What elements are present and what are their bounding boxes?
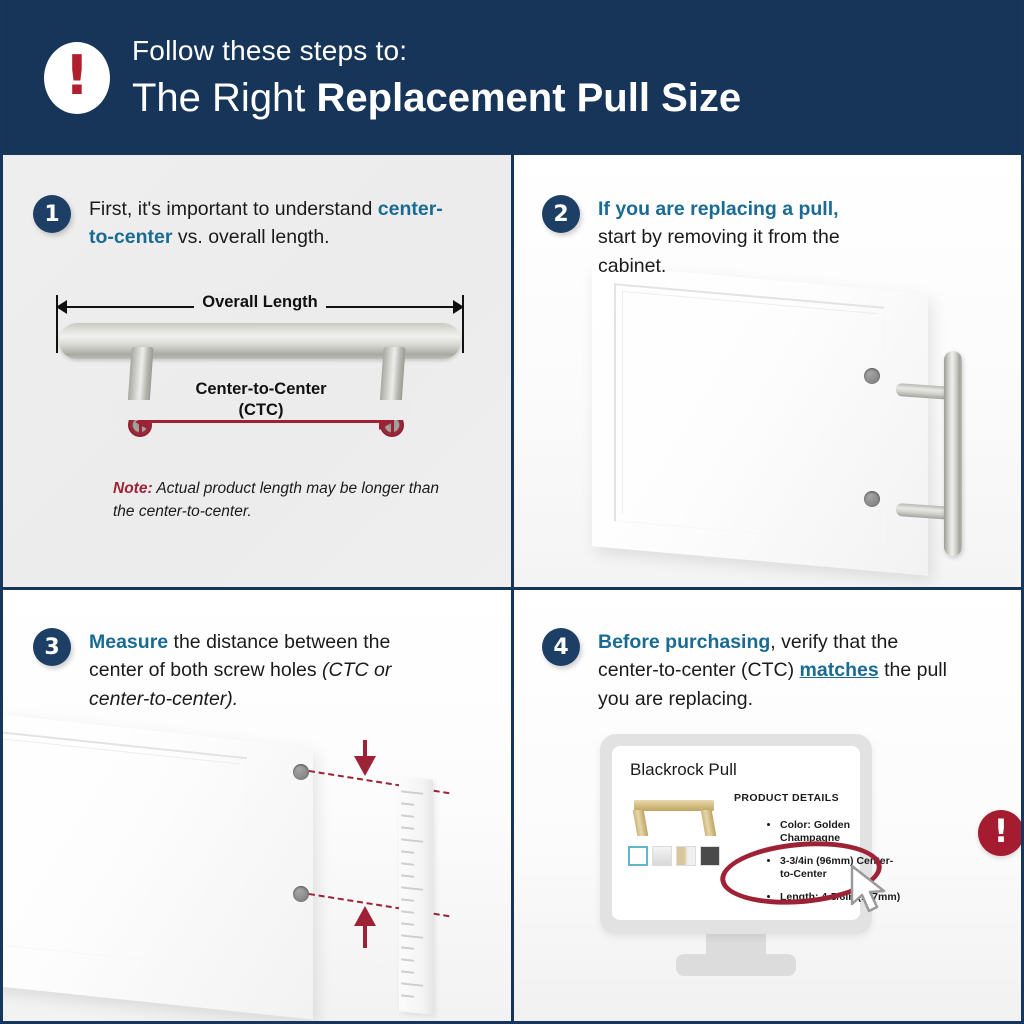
screw-hole-top [864,368,880,384]
step-3-badge: 3 [33,628,71,666]
step-2-text: If you are replacing a pull, start by re… [598,195,842,280]
thumbnail-2[interactable] [652,846,672,866]
monitor-screen: Blackrock Pull PRODUCT DETAILS [612,746,860,920]
header-text-group: Follow these steps to: The Right Replace… [132,35,741,119]
ctc-measure-line [140,420,392,423]
grid-divider-horizontal [3,587,1021,590]
step-2-badge: 2 [542,195,580,233]
step-3-text-bold: Measure [89,631,168,653]
thumbnail-3[interactable] [676,846,696,866]
measure-arrow-up [354,906,376,926]
product-pull-leg-left [633,810,649,836]
note-text: Note: Actual product length may be longe… [113,477,443,524]
product-details-heading: PRODUCT DETAILS [734,792,839,804]
product-thumbnails[interactable] [628,846,720,866]
door-inset-molding-2 [3,735,240,963]
overall-length-label: Overall Length [51,293,469,312]
step-1-text-b: vs. overall length. [172,226,329,248]
step-4-badge: 4 [542,628,580,666]
panel-step-2: 2 If you are replacing a pull, start by … [512,155,1021,588]
ctc-label-line2: (CTC) [111,400,411,421]
door-inset-molding-2 [622,291,877,536]
step-2-head: 2 If you are replacing a pull, start by … [542,195,842,280]
header-banner: ! Follow these steps to: The Right Repla… [3,0,1021,155]
step-3-head: 3 Measure the distance between the cente… [33,628,433,713]
screw-hole-bottom [293,886,309,902]
steps-grid: 1 First, it's important to understand ce… [3,155,1021,1021]
note-body: Actual product length may be longer than… [113,480,439,520]
overall-length-label-text: Overall Length [194,293,326,311]
header-kicker: Follow these steps to: [132,35,741,67]
panel-step-1: 1 First, it's important to understand ce… [3,155,512,588]
step-4-text: Before purchasing, verify that the cente… [598,628,962,713]
step-1-badge: 1 [33,195,71,233]
mouse-cursor-icon [848,864,892,916]
product-image [628,790,722,842]
bar-pull-vertical [944,351,962,556]
cabinet-door-step2 [592,255,1012,575]
ruler [399,776,433,1015]
measure-stem-bottom [363,926,367,948]
step-2-text-b: start by removing it from the cabinet. [598,226,840,276]
step-3-text: Measure the distance between the center … [89,628,433,713]
product-title: Blackrock Pull [630,760,737,780]
step-1-head: 1 First, it's important to understand ce… [33,195,453,252]
alert-badge-icon: ! [978,810,1021,856]
product-pull-leg-right [701,810,717,836]
step-4-text-bold: Before purchasing [598,631,770,653]
matches-link[interactable]: matches [800,659,879,681]
ctc-label: Center-to-Center (CTC) [111,379,411,420]
infographic-root: ! Follow these steps to: The Right Repla… [0,0,1024,1024]
header-title-bold: Replacement Pull Size [317,76,742,120]
panel-step-3: 3 Measure the distance between the cente… [3,588,512,1021]
alert-exclamation-icon: ! [44,42,110,114]
header-title: The Right Replacement Pull Size [132,76,741,120]
monitor-base [676,954,796,976]
thumbnail-4[interactable] [700,846,720,866]
panel-step-4: 4 Before purchasing, verify that the cen… [512,588,1021,1021]
monitor-mockup: Blackrock Pull PRODUCT DETAILS [600,734,872,934]
step-2-text-bold: If you are replacing a pull, [598,198,839,220]
step-4-head: 4 Before purchasing, verify that the cen… [542,628,962,713]
thumbnail-1-selected[interactable] [628,846,648,866]
step-1-text: First, it's important to understand cent… [89,195,453,252]
bar-pull-diagram: Overall Length Center-to-Center (CTC) [51,295,469,445]
screw-hole-bottom [864,491,880,507]
step-1-text-a: First, it's important to understand [89,198,378,220]
monitor-neck [706,934,766,956]
exclamation-glyph: ! [65,49,90,103]
header-title-light: The Right [132,76,317,120]
ctc-label-line1: Center-to-Center [195,380,326,398]
screw-hole-top [293,764,309,780]
note-prefix: Note: [113,480,153,497]
alert-badge-glyph: ! [994,815,1009,847]
measure-stem-top [363,740,367,760]
